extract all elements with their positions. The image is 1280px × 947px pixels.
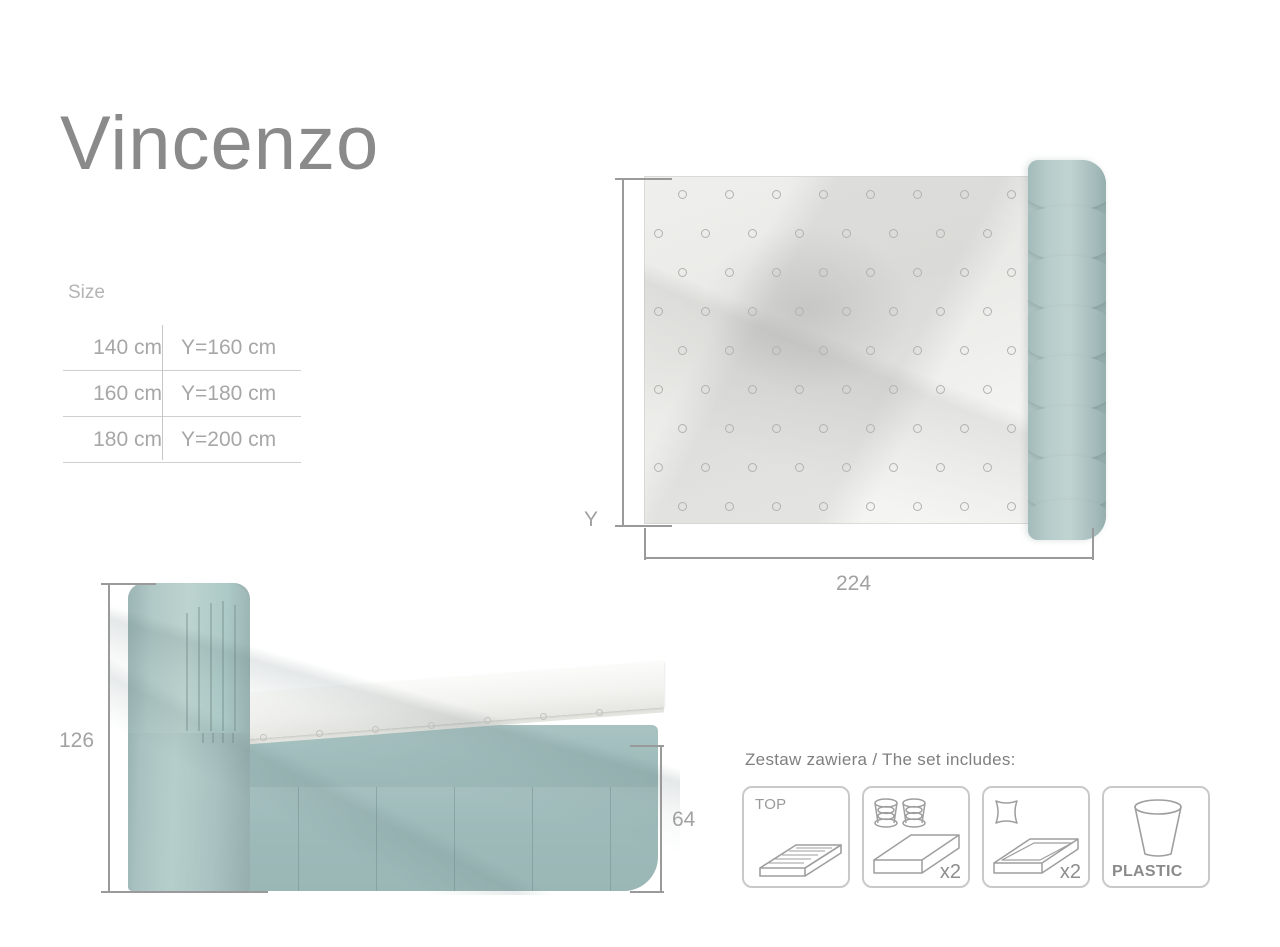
tufting-button: [678, 502, 687, 511]
tufting-button: [936, 463, 945, 472]
set-item-plastic-leg[interactable]: PLASTIC: [1102, 786, 1210, 888]
tufting-button: [701, 385, 710, 394]
tufting-button: [654, 385, 663, 394]
tufting-button: [654, 463, 663, 472]
dim-64-tick-top: [630, 745, 664, 747]
dim-y-ext-top: [622, 178, 672, 180]
tufting-button: [654, 307, 663, 316]
set-includes-icon-row: TOP: [742, 786, 1210, 888]
tufting-button: [678, 346, 687, 355]
tufting-button: [960, 502, 969, 511]
tufting-button: [842, 307, 851, 316]
tufting-button: [913, 502, 922, 511]
tufting-button: [889, 307, 898, 316]
dim-126-line: [108, 583, 110, 893]
tufting-button: [795, 229, 804, 238]
dim-y-ext-bottom: [622, 525, 672, 527]
tufting-button: [1007, 346, 1016, 355]
tufting-button: [725, 346, 734, 355]
tufting-button: [819, 424, 828, 433]
dim-64-label: 64: [672, 808, 695, 832]
tufting-button: [725, 268, 734, 277]
size-length-cell: Y=200 cm: [171, 428, 276, 452]
tufting-button: [795, 307, 804, 316]
tufting-button: [1007, 268, 1016, 277]
tufting-button: [913, 346, 922, 355]
tufting-button: [983, 307, 992, 316]
tufting-button: [654, 229, 663, 238]
tufting-button: [913, 424, 922, 433]
tufting-button: [678, 424, 687, 433]
headboard-side-top: [128, 583, 250, 733]
tufting-button: [866, 424, 875, 433]
headboard-plan: [1028, 160, 1106, 540]
tufting-button: [866, 346, 875, 355]
tufting-button: [936, 229, 945, 238]
tufting-button: [819, 268, 828, 277]
tufting-button: [748, 307, 757, 316]
dim-y-label: Y: [584, 508, 598, 532]
tufting-button: [889, 463, 898, 472]
tufting-button: [819, 346, 828, 355]
tufting-button: [983, 463, 992, 472]
tufting-button: [772, 502, 781, 511]
size-width-cell: 140 cm: [63, 336, 171, 360]
tufting-button: [748, 385, 757, 394]
bed-top-view-diagram: Y 224: [600, 160, 1120, 580]
bed-side-view-diagram: 126 64: [110, 575, 680, 895]
tufting-button: [983, 229, 992, 238]
tufting-button: [1007, 424, 1016, 433]
tufting-button: [725, 502, 734, 511]
tufting-button: [866, 502, 875, 511]
tufting-button: [725, 190, 734, 199]
dim-224-label: 224: [836, 572, 871, 596]
page-title: Vincenzo: [60, 102, 379, 186]
size-length-cell: Y=160 cm: [171, 336, 276, 360]
size-width-cell: 180 cm: [63, 428, 171, 452]
tufting-button: [960, 346, 969, 355]
tufting-button: [772, 190, 781, 199]
dim-64-line: [660, 745, 662, 893]
plastic-leg-icon: [1104, 794, 1212, 866]
dim-64-tick-bottom: [630, 891, 664, 893]
tufting-button: [936, 307, 945, 316]
tufting-button: [842, 229, 851, 238]
dim-126-ext-top: [108, 583, 156, 585]
mattress-tufting-buttons: [644, 176, 1034, 524]
size-table: 140 cm Y=160 cm 160 cm Y=180 cm 180 cm Y…: [63, 325, 301, 463]
set-item-spring-mattress[interactable]: x2: [862, 786, 970, 888]
tufting-button: [428, 722, 435, 729]
tufting-button: [772, 346, 781, 355]
size-table-column-divider: [162, 325, 163, 460]
spec-sheet-canvas: Vincenzo Size 140 cm Y=160 cm 160 cm Y=1…: [0, 0, 1280, 947]
tufting-button: [842, 385, 851, 394]
tufting-button: [795, 385, 804, 394]
table-row: 140 cm Y=160 cm: [63, 325, 301, 371]
topper-icon: [744, 821, 852, 883]
table-row: 180 cm Y=200 cm: [63, 417, 301, 463]
tufting-button: [936, 385, 945, 394]
size-width-cell: 160 cm: [63, 382, 171, 406]
tufting-button: [372, 726, 379, 733]
tufting-button: [819, 502, 828, 511]
tufting-button: [889, 385, 898, 394]
tufting-button: [678, 268, 687, 277]
tufting-button: [842, 463, 851, 472]
storage-box-qty: x2: [1060, 861, 1081, 884]
set-includes-title: Zestaw zawiera / The set includes:: [745, 750, 1016, 770]
tufting-button: [748, 463, 757, 472]
tufting-button: [540, 713, 547, 720]
dim-126-label: 126: [59, 729, 94, 753]
spring-mattress-qty: x2: [940, 861, 961, 884]
tufting-button: [725, 424, 734, 433]
dim-224-line: [644, 557, 1094, 559]
tufting-button: [819, 190, 828, 199]
tufting-button: [960, 190, 969, 199]
tufting-button: [889, 229, 898, 238]
tufting-button: [913, 268, 922, 277]
set-item-storage-box[interactable]: x2: [982, 786, 1090, 888]
dim-y-line: [622, 178, 624, 526]
tufting-button: [1007, 502, 1016, 511]
tufting-button: [983, 385, 992, 394]
tufting-button: [866, 190, 875, 199]
tufting-button: [701, 463, 710, 472]
tufting-button: [913, 190, 922, 199]
topper-caption: TOP: [755, 796, 786, 813]
tufting-button: [748, 229, 757, 238]
plastic-caption: PLASTIC: [1112, 863, 1183, 881]
tufting-button: [701, 307, 710, 316]
tufting-button: [795, 463, 804, 472]
dim-224-tick-right: [1092, 528, 1094, 560]
size-length-cell: Y=180 cm: [171, 382, 276, 406]
table-row: 160 cm Y=180 cm: [63, 371, 301, 417]
set-item-topper[interactable]: TOP: [742, 786, 850, 888]
tufting-button: [772, 268, 781, 277]
tufting-button: [678, 190, 687, 199]
tufting-button: [701, 229, 710, 238]
tufting-button: [596, 709, 603, 716]
tufting-button: [960, 424, 969, 433]
size-table-label: Size: [68, 282, 105, 304]
tufting-button: [960, 268, 969, 277]
tufting-button: [1007, 190, 1016, 199]
dim-224-tick-left: [644, 528, 646, 560]
tufting-button: [772, 424, 781, 433]
dim-126-ext-bottom: [108, 891, 268, 893]
tufting-button: [866, 268, 875, 277]
